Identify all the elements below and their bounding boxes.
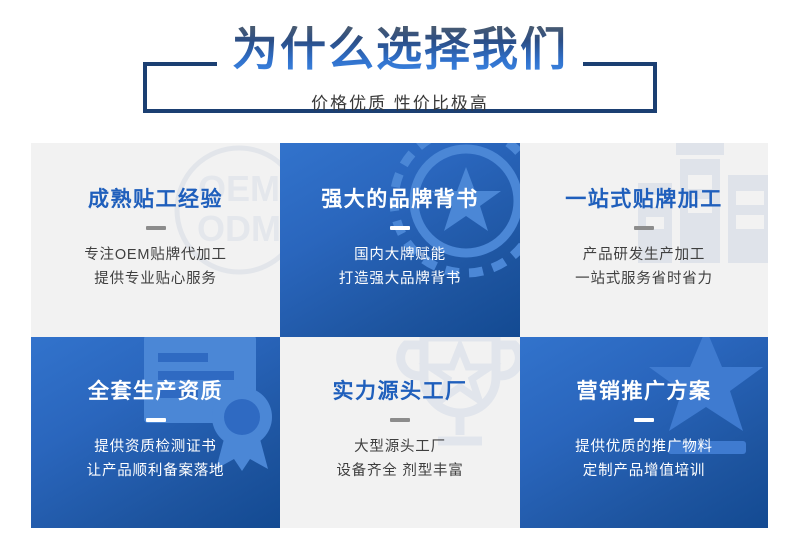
feature-card-line: 打造强大品牌背书 (280, 268, 520, 292)
feature-card-title: 成熟贴工经验 (31, 189, 280, 210)
feature-card-strong-brand-endorsement[interactable]: 强大的品牌背书 国内大牌赋能 打造强大品牌背书 (280, 143, 520, 337)
feature-card-line: 提供专业贴心服务 (31, 268, 280, 292)
title-divider (634, 418, 654, 422)
feature-grid: OEM ODM 成熟贴工经验 专注OEM贴牌代加工 提供专业贴心服务 强大的品牌… (31, 143, 768, 528)
title-divider (390, 418, 410, 422)
feature-card-line: 提供资质检测证书 (31, 436, 280, 460)
feature-card-line: 让产品顺利备案落地 (31, 460, 280, 484)
title-divider (146, 226, 166, 230)
title-divider (634, 226, 654, 230)
feature-card-title: 一站式贴牌加工 (520, 189, 768, 210)
feature-card-line: 一站式服务省时省力 (520, 268, 768, 292)
feature-card-one-stop-oem-processing[interactable]: 一站式贴牌加工 产品研发生产加工 一站式服务省时省力 (520, 143, 768, 337)
feature-card-marketing-promotion-plan[interactable]: 营销推广方案 提供优质的推广物料 定制产品增值培训 (520, 337, 768, 528)
feature-card-line: 专注OEM贴牌代加工 (31, 244, 280, 268)
title-divider (146, 418, 166, 422)
feature-card-line: 大型源头工厂 (280, 436, 520, 460)
feature-card-line: 定制产品增值培训 (520, 460, 768, 484)
page-header: 为什么选择我们 价格优质 性价比极高 (0, 0, 800, 143)
feature-card-full-production-qualifications[interactable]: 全套生产资质 提供资质检测证书 让产品顺利备案落地 (31, 337, 280, 528)
feature-card-line: 产品研发生产加工 (520, 244, 768, 268)
feature-card-line: 设备齐全 剂型丰富 (280, 460, 520, 484)
page-subtitle: 价格优质 性价比极高 (0, 95, 800, 112)
feature-card-line: 提供优质的推广物料 (520, 436, 768, 460)
title-divider (390, 226, 410, 230)
page-title: 为什么选择我们 (0, 26, 800, 72)
feature-card-title: 强大的品牌背书 (280, 189, 520, 210)
feature-card-line: 国内大牌赋能 (280, 244, 520, 268)
feature-card-title: 全套生产资质 (31, 381, 280, 402)
feature-card-title: 实力源头工厂 (280, 381, 520, 402)
feature-card-mature-oem-experience[interactable]: OEM ODM 成熟贴工经验 专注OEM贴牌代加工 提供专业贴心服务 (31, 143, 280, 337)
feature-card-strong-source-factory[interactable]: 实力源头工厂 大型源头工厂 设备齐全 剂型丰富 (280, 337, 520, 528)
feature-card-title: 营销推广方案 (520, 381, 768, 402)
